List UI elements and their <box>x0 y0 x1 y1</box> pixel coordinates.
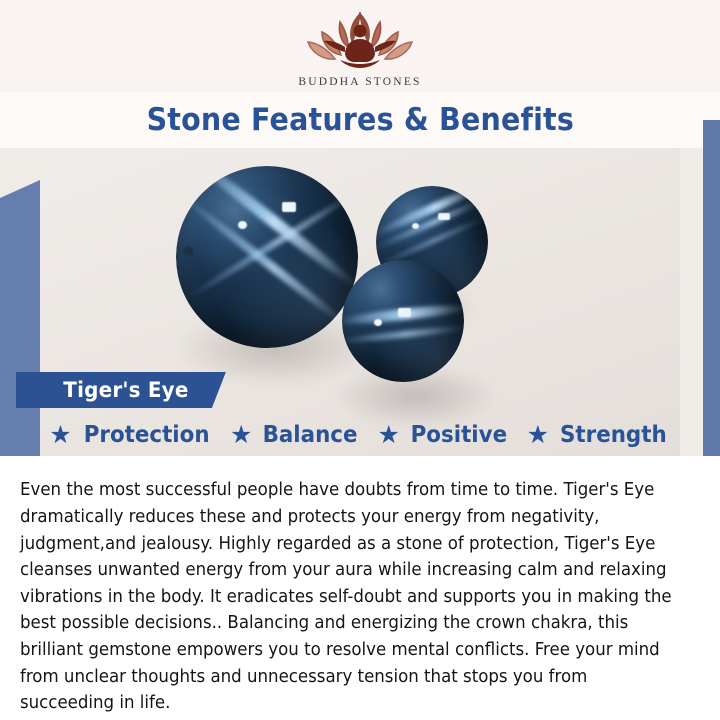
infographic-page: BUDDHA STONES Stone Features & Benefits <box>0 0 720 720</box>
brand-name: BUDDHA STONES <box>298 76 421 88</box>
star-icon: ★ <box>49 423 71 448</box>
benefit-label: Balance <box>263 422 358 448</box>
star-icon: ★ <box>377 423 399 448</box>
stone-name-label: Tiger's Eye <box>63 378 188 402</box>
stone-name-banner: Tiger's Eye <box>16 372 226 408</box>
title-bar: Stone Features & Benefits <box>0 92 720 148</box>
description-text: Even the most successful people have dou… <box>20 477 673 716</box>
benefits-row: ★ Protection ★ Balance ★ Positive ★ Stre… <box>0 416 720 454</box>
page-title: Stone Features & Benefits <box>146 102 573 138</box>
brand-lockup: BUDDHA STONES <box>0 8 720 88</box>
star-icon: ★ <box>527 423 549 448</box>
benefit-item-strength: ★ Strength <box>520 422 678 448</box>
benefit-label: Strength <box>560 422 667 448</box>
star-icon: ★ <box>230 423 252 448</box>
description-section: Even the most successful people have dou… <box>0 456 720 720</box>
stone-photo-canvas <box>40 148 680 460</box>
benefit-label: Positive <box>411 422 507 448</box>
gemstone-sphere-large <box>176 166 358 348</box>
benefit-label: Protection <box>83 422 209 448</box>
benefit-item-balance: ★ Balance <box>223 422 368 448</box>
stone-photo <box>0 148 720 460</box>
benefit-item-positive: ★ Positive <box>370 422 517 448</box>
benefit-item-protection: ★ Protection <box>42 422 221 448</box>
gemstone-sphere-small <box>342 260 464 382</box>
lotus-meditation-icon <box>296 8 424 74</box>
